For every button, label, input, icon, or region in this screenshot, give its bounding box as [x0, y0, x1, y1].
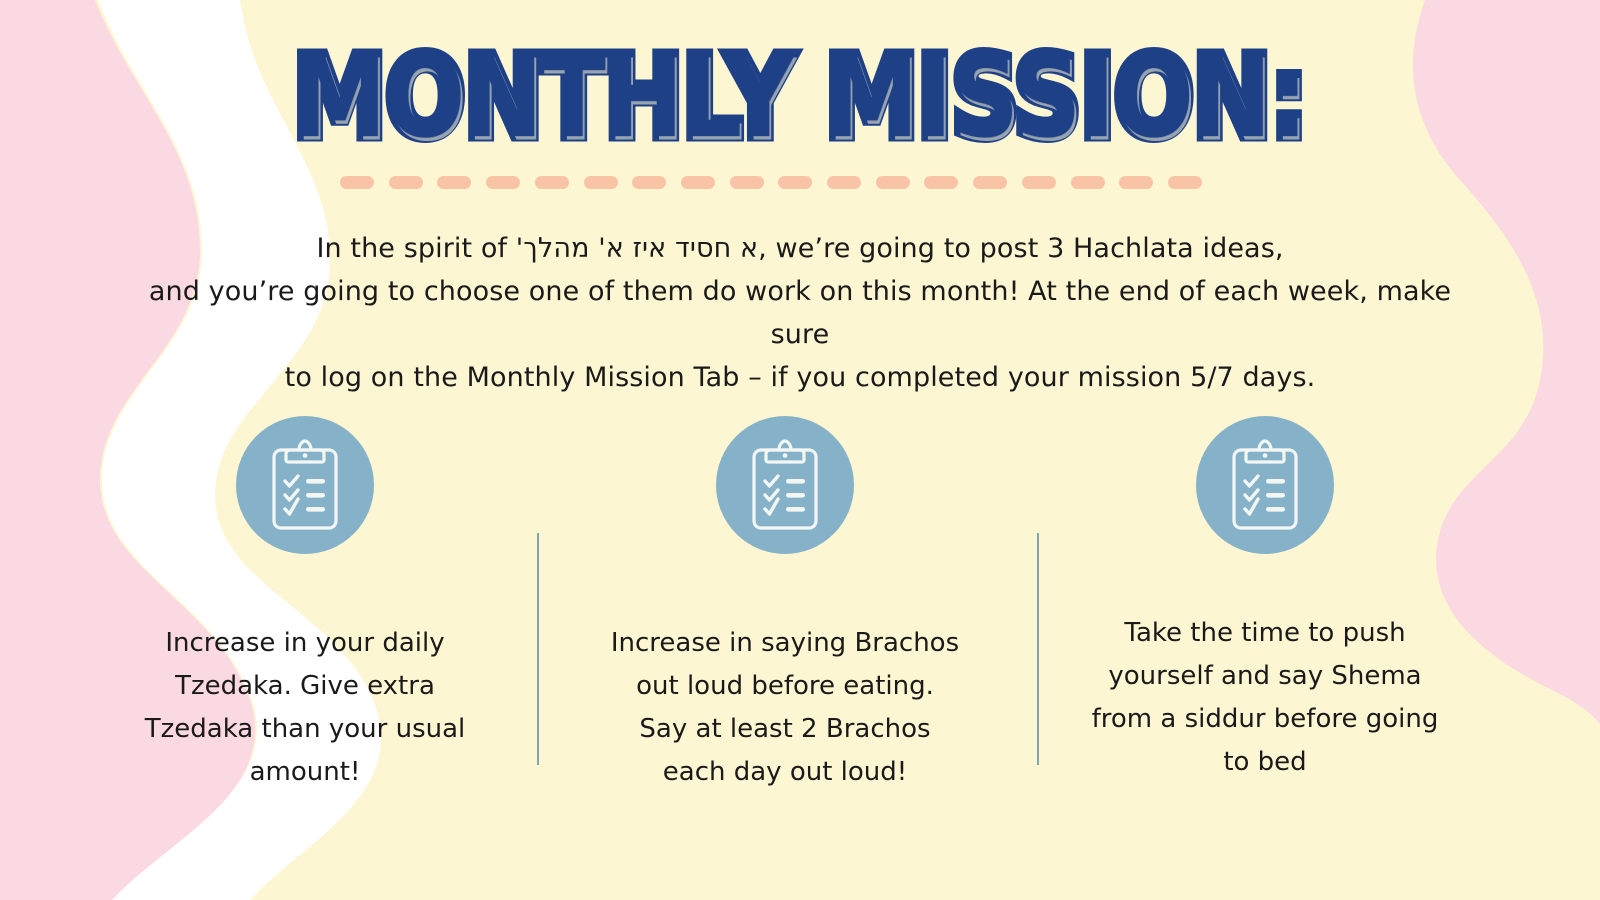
mission-column-2: Increase in saying Brachos out loud befo… — [620, 416, 950, 794]
mission-text: Increase in saying Brachos out loud befo… — [610, 622, 960, 794]
clipboard-checklist-icon — [236, 416, 374, 554]
intro-hebrew-phrase: א חסיד איז א' מהלך' — [516, 233, 758, 264]
clipboard-checklist-icon — [1196, 416, 1334, 554]
mission-text: Increase in your daily Tzedaka. Give ext… — [140, 622, 470, 794]
divider-dash — [486, 176, 520, 189]
clipboard-checklist-icon — [716, 416, 854, 554]
divider-dash — [340, 176, 374, 189]
dashed-divider — [340, 175, 1202, 189]
divider-dash — [1071, 176, 1105, 189]
divider-dash — [1119, 176, 1153, 189]
intro-line1-after: , we’re going to post 3 Hachlata ideas, — [758, 233, 1283, 264]
page-title-text: MONTHLY MISSION: — [293, 42, 1307, 154]
divider-dash — [1168, 176, 1202, 189]
divider-dash — [778, 176, 812, 189]
divider-dash — [632, 176, 666, 189]
divider-dash — [1022, 176, 1056, 189]
divider-dash — [730, 176, 764, 189]
divider-dash — [973, 176, 1007, 189]
mission-text: Take the time to push yourself and say S… — [1085, 612, 1445, 784]
divider-dash — [535, 176, 569, 189]
intro-line3: to log on the Monthly Mission Tab – if y… — [285, 362, 1316, 393]
divider-dash — [876, 176, 910, 189]
mission-column-3: Take the time to push yourself and say S… — [1100, 416, 1430, 784]
slide-canvas: MONTHLY MISSION: In the spirit of א חסיד… — [0, 0, 1600, 900]
intro-line2: and you’re going to choose one of them d… — [149, 276, 1451, 350]
divider-dash — [924, 176, 958, 189]
intro-paragraph: In the spirit of א חסיד איז א' מהלך', we… — [130, 227, 1470, 399]
mission-columns: Increase in your daily Tzedaka. Give ext… — [0, 416, 1600, 816]
page-title: MONTHLY MISSION: — [0, 42, 1600, 134]
mission-column-1: Increase in your daily Tzedaka. Give ext… — [140, 416, 470, 794]
divider-dash — [681, 176, 715, 189]
divider-dash — [584, 176, 618, 189]
divider-dash — [437, 176, 471, 189]
divider-dash — [827, 176, 861, 189]
intro-line1-before: In the spirit of — [316, 233, 515, 264]
divider-dash — [389, 176, 423, 189]
